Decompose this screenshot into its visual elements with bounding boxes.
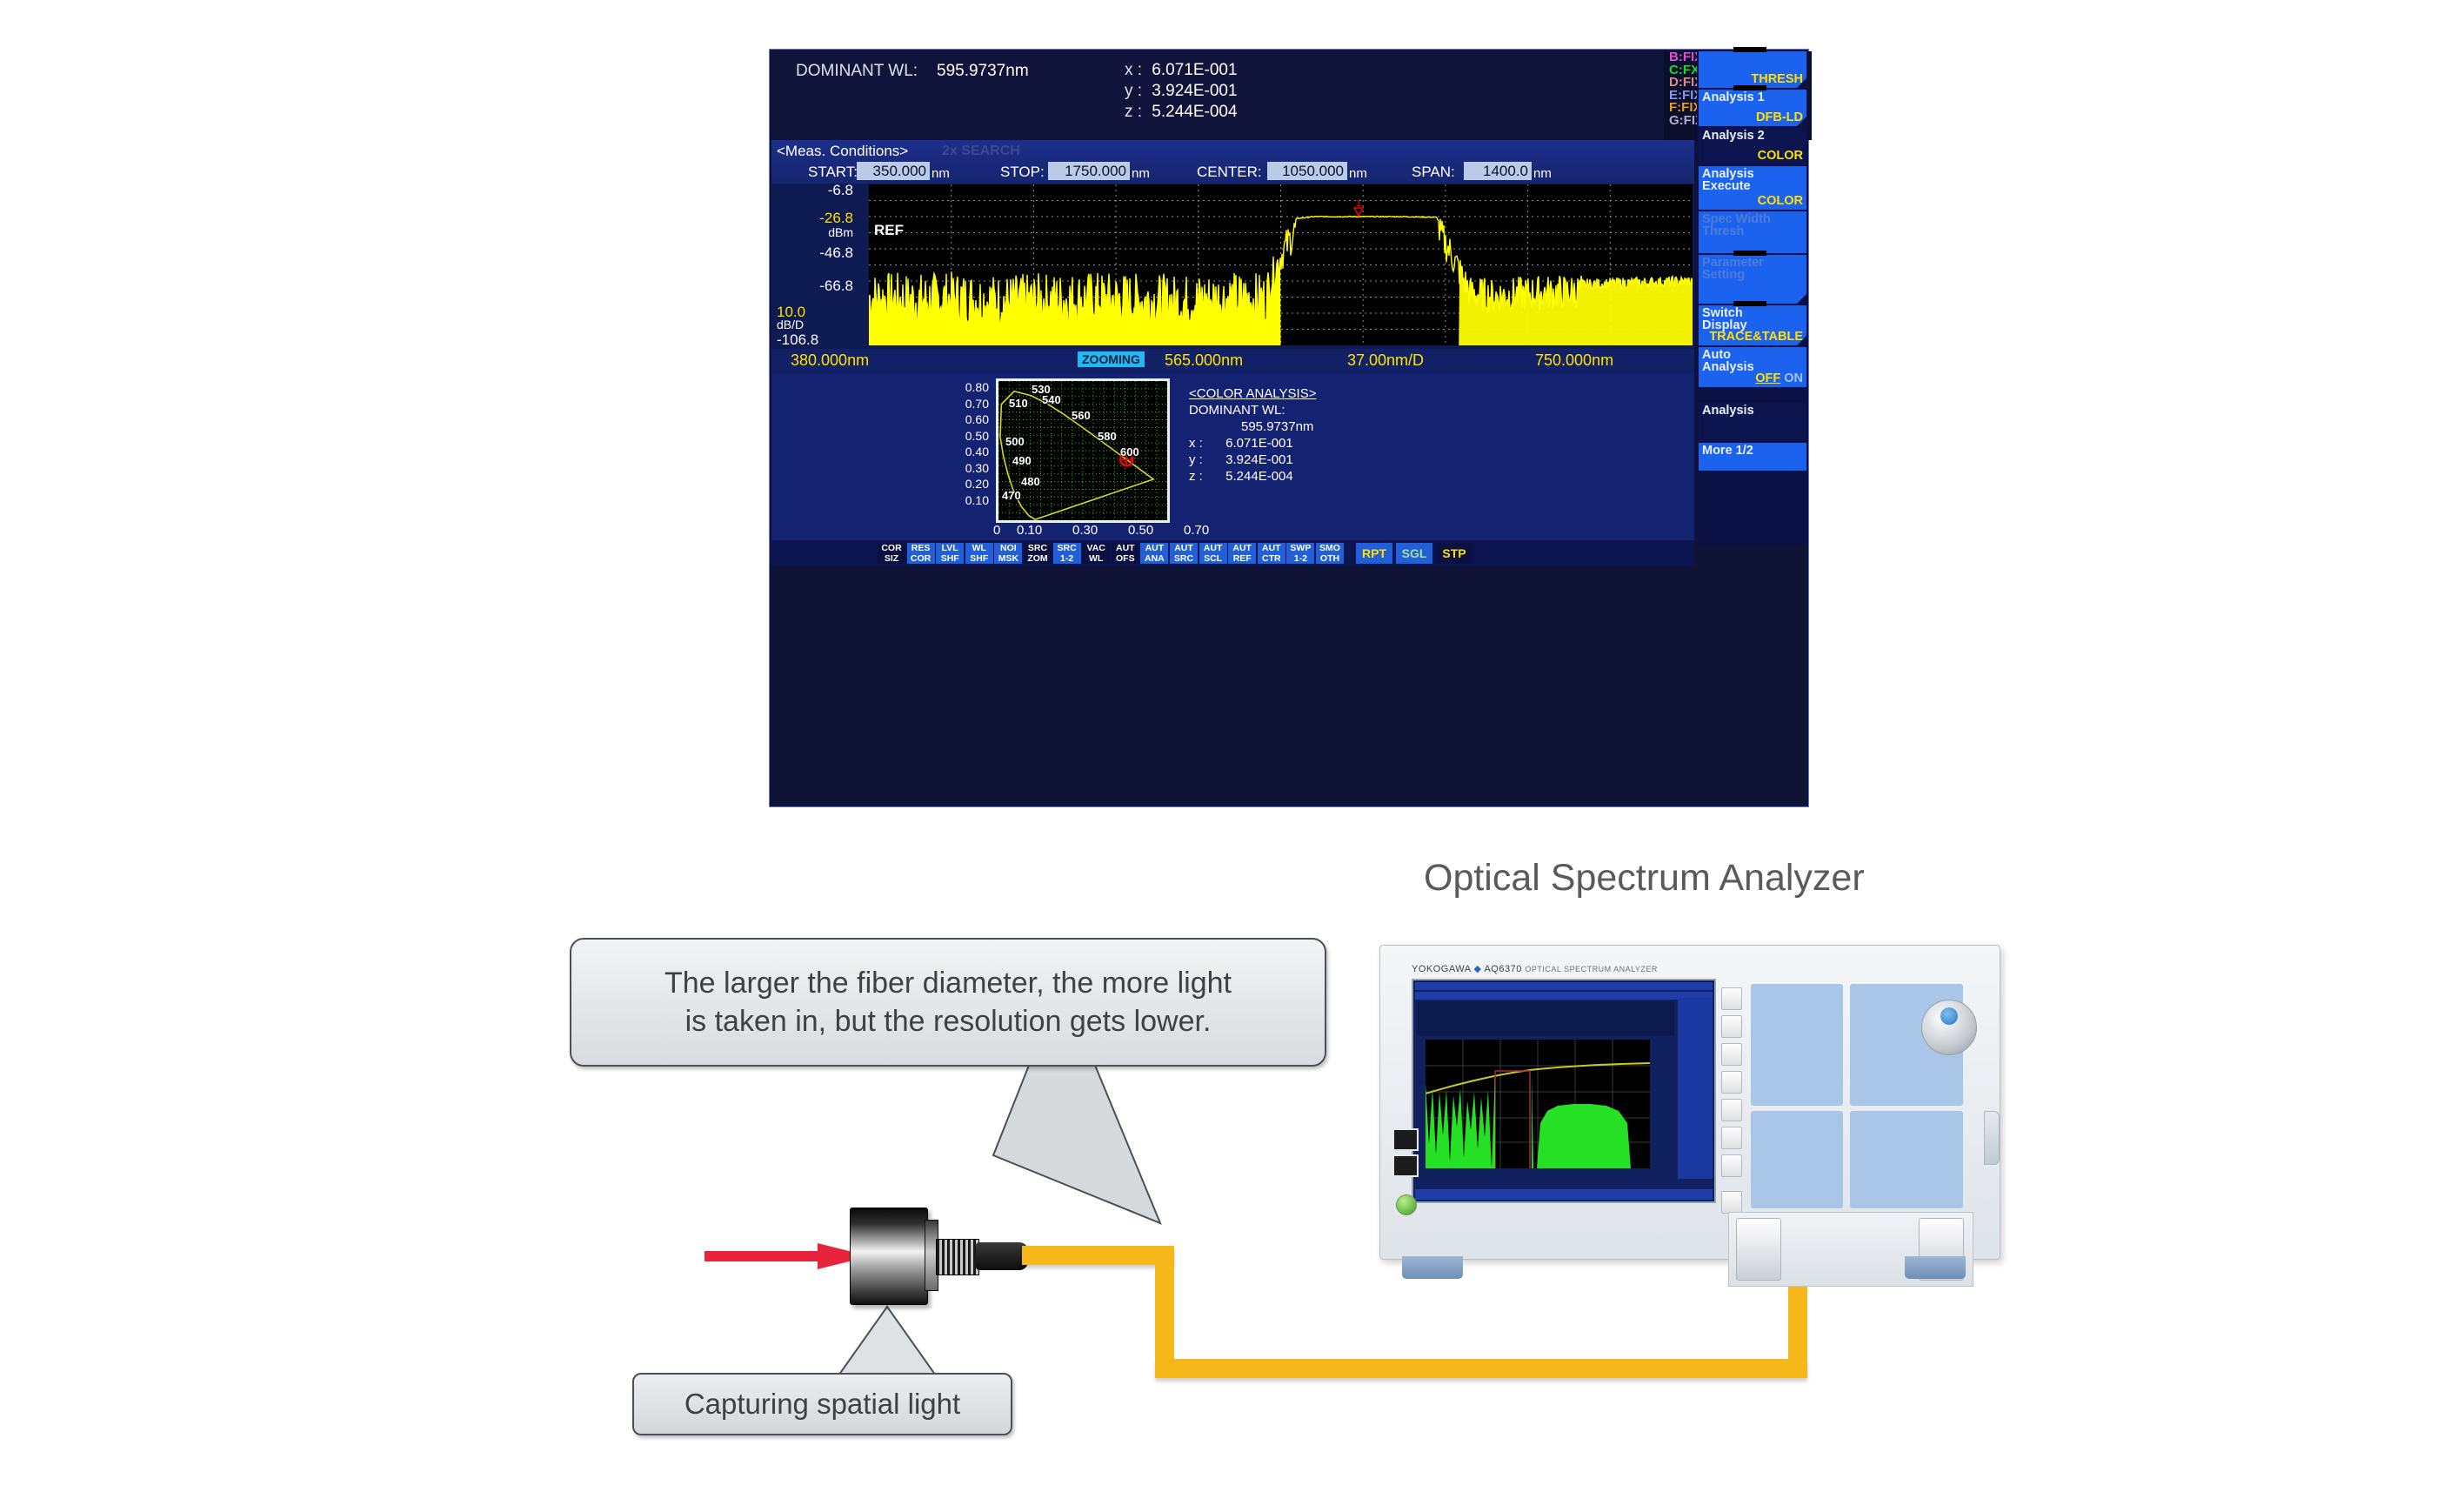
status-key[interactable]: SRCZOM	[1024, 543, 1052, 564]
start-value[interactable]: 350.000	[857, 162, 930, 180]
chroma-x-tick: 0	[993, 523, 1000, 538]
collimator-barrel	[850, 1208, 928, 1305]
status-key[interactable]: WLSHF	[965, 543, 993, 564]
status-key-line2: WL	[1082, 554, 1110, 565]
x-center-label: 565.000nm	[1165, 351, 1243, 370]
instrument-foot-left	[1402, 1256, 1463, 1279]
softkey[interactable]: Spec WidthThresh	[1699, 211, 1806, 253]
power-button[interactable]	[1396, 1194, 1417, 1215]
center-unit: nm	[1349, 166, 1367, 181]
diamond-icon: ◆	[1474, 964, 1482, 974]
chroma-y-tick: 0.40	[947, 445, 989, 458]
status-key[interactable]: AUTOFS	[1112, 543, 1139, 564]
status-key-line1: COR	[878, 544, 905, 554]
status-key-line1: AUT	[1258, 544, 1285, 554]
status-key-line1: AUT	[1112, 544, 1139, 554]
softkey-corner-icon	[1797, 336, 1806, 345]
softkey[interactable]: AutoAnalysisOFF ON	[1699, 347, 1806, 387]
status-key-line1: VAC	[1082, 544, 1110, 554]
span-unit: nm	[1533, 166, 1552, 181]
start-unit: nm	[932, 166, 950, 181]
status-key-line2: OTH	[1316, 554, 1344, 565]
ca-z-value: 5.244E-004	[1210, 469, 1293, 484]
softkey-on-option[interactable]: ON	[1784, 371, 1803, 385]
display-plot	[1426, 1040, 1650, 1168]
usb-port-1[interactable]	[1392, 1128, 1419, 1151]
softkey-corner-icon	[1797, 117, 1806, 126]
softkey-button-7[interactable]	[1721, 1154, 1742, 1177]
instrument-display	[1412, 979, 1716, 1203]
status-key[interactable]: SMOOTH	[1316, 543, 1344, 564]
x-start-label: 380.000nm	[791, 351, 869, 370]
center-value[interactable]: 1050.000	[1267, 162, 1347, 180]
softkey-tab-marker	[1733, 47, 1766, 52]
status-key-line1: WL	[965, 544, 993, 554]
color-analysis-panel: 0.800.700.600.500.400.300.200.10 00.100.…	[771, 373, 1694, 540]
spectrum-trace-svg: 1	[869, 184, 1693, 345]
chroma-y-tick: 0.70	[947, 397, 989, 411]
status-key[interactable]: AUTANA	[1140, 543, 1168, 564]
chroma-y-tick: 0.20	[947, 477, 989, 491]
status-key-line1: NOI	[994, 544, 1022, 554]
softkey-button-8[interactable]	[1721, 1191, 1742, 1214]
status-key-line1: AUT	[1140, 544, 1168, 554]
status-key-line2: SHF	[936, 554, 964, 565]
softkey-value: COLOR	[1758, 149, 1803, 163]
status-key-line1: SWP	[1286, 544, 1314, 554]
fiber-segment-1	[1022, 1246, 1174, 1265]
scale-unit: dB/D	[777, 318, 841, 331]
status-key-line1: SRC	[1053, 544, 1081, 554]
ca-y-value: 3.924E-001	[1210, 452, 1293, 467]
softkey-title: AutoAnalysis	[1702, 349, 1754, 373]
status-key-line1: LVL	[936, 544, 964, 554]
status-key[interactable]: CORSIZ	[878, 543, 905, 564]
callout-bubble: The larger the fiber diameter, the more …	[570, 938, 1326, 1067]
osa-screenshot: DOMINANT WL: 595.9737nm x : 6.071E-001 y…	[769, 49, 1809, 807]
softkey-title: SwitchDisplay	[1702, 307, 1747, 331]
stop-unit: nm	[1132, 166, 1150, 181]
y-value: 3.924E-001	[1152, 82, 1237, 100]
callout-line-1: The larger the fiber diameter, the more …	[664, 964, 1232, 1002]
chroma-wl-label: 560	[1072, 409, 1091, 422]
z-value: 5.244E-004	[1152, 103, 1237, 121]
ca-z-label: z :	[1189, 468, 1206, 485]
chroma-y-tick: 0.80	[947, 380, 989, 394]
xyz-readout: x : 6.071E-001 y : 3.924E-001 z : 5.244E…	[1125, 60, 1238, 123]
instrument-brand-label: YOKOGAWA ◆ AQ6370 OPTICAL SPECTRUM ANALY…	[1412, 963, 1658, 974]
display-titlebar-2	[1415, 992, 1713, 1000]
optical-spectrum-analyzer-photo: YOKOGAWA ◆ AQ6370 OPTICAL SPECTRUM ANALY…	[1372, 938, 2006, 1273]
softkey[interactable]: Analysis	[1699, 403, 1806, 441]
incoming-light-arrow-icon	[704, 1243, 870, 1269]
analysis-header: DOMINANT WL: 595.9737nm x : 6.071E-001 y…	[770, 50, 1694, 140]
chromaticity-diagram: 470480490500510530540560580600	[996, 378, 1170, 523]
chroma-wl-label: 470	[1002, 489, 1021, 502]
model-text: AQ6370	[1484, 964, 1525, 974]
chroma-x-tick: 0.10	[1017, 523, 1042, 538]
chroma-y-tick: 0.30	[947, 461, 989, 475]
status-key-line2: 1-2	[1053, 554, 1081, 565]
instrument-foot-right	[1905, 1256, 1966, 1279]
status-key-line1: AUT	[1199, 544, 1227, 554]
status-key-line2: ANA	[1140, 554, 1168, 565]
status-key-line1: AUT	[1170, 544, 1198, 554]
chroma-x-tick: 0.70	[1184, 523, 1209, 538]
fiber-connector-thread	[936, 1239, 979, 1275]
z-label: z :	[1125, 102, 1147, 123]
softkey-title: Analysis 1	[1702, 91, 1765, 104]
sweep-mode-key[interactable]: RPT	[1356, 543, 1392, 564]
center-label: CENTER:	[1197, 164, 1262, 181]
status-key-line2: SRC	[1170, 554, 1198, 565]
rotary-knob[interactable]	[1921, 1000, 1977, 1055]
status-key-line2: OFS	[1112, 554, 1139, 565]
status-key-line2: CTR	[1258, 554, 1285, 565]
instrument-chassis: YOKOGAWA ◆ AQ6370 OPTICAL SPECTRUM ANALY…	[1379, 945, 2000, 1260]
color-analysis-title: <COLOR ANALYSIS>	[1189, 385, 1316, 402]
softkey[interactable]: Analysis 2COLOR	[1699, 128, 1806, 164]
status-key-line2: COR	[907, 554, 935, 565]
ref-marker-label: REF	[874, 222, 904, 239]
softkey-value: TRACE&TABLE	[1709, 330, 1803, 344]
softkey-column: THRESHAnalysis 1DFB-LDAnalysis 2COLORAna…	[1697, 50, 1808, 545]
callout-pointer	[992, 1061, 1305, 1227]
capture-label: Capturing spatial light	[632, 1373, 1012, 1435]
y-label-3: -66.8	[789, 278, 853, 295]
status-key-line2: MSK	[994, 554, 1022, 565]
chroma-x-tick: 0.30	[1072, 523, 1098, 538]
y-units: dBm	[789, 225, 853, 239]
display-softkeys	[1678, 998, 1713, 1179]
x-stop-label: 750.000nm	[1535, 351, 1613, 370]
softkey-off-option[interactable]: OFF	[1755, 371, 1780, 385]
softkey-title: Analysis 2	[1702, 130, 1765, 142]
capture-label-text: Capturing spatial light	[684, 1388, 960, 1421]
softkey[interactable]: ParameterSetting	[1699, 255, 1806, 304]
status-key-line1: AUT	[1228, 544, 1256, 554]
chroma-wl-label: 510	[1009, 397, 1028, 410]
chroma-wl-label: 600	[1120, 445, 1139, 458]
chroma-y-tick: 0.50	[947, 429, 989, 443]
ca-domwl-label: DOMINANT WL:	[1189, 402, 1316, 418]
status-key-line1: SRC	[1024, 544, 1052, 554]
dominant-wl-value: 595.9737nm	[937, 62, 1029, 81]
keypad-group-left-bottom	[1751, 1111, 1843, 1208]
x-axis-bar: 380.000nm ZOOMING 565.000nm 37.00nm/D 75…	[771, 349, 1694, 373]
sweep-mode-key[interactable]: STP	[1436, 543, 1472, 564]
start-label: START:	[808, 164, 858, 181]
softkey-value: COLOR	[1758, 194, 1803, 208]
chroma-wl-label: 500	[1005, 435, 1025, 448]
stop-value[interactable]: 1750.000	[1048, 162, 1130, 180]
status-key[interactable]: SWP1-2	[1286, 543, 1314, 564]
softkey-button-1[interactable]	[1721, 987, 1742, 1010]
usb-port-2[interactable]	[1392, 1154, 1419, 1177]
fiber-connector-boot	[976, 1242, 1028, 1270]
status-key-line1: RES	[907, 544, 935, 554]
status-bar: CORSIZRESCORLVLSHFWLSHFNOIMSKSRCZOMSRC1-…	[771, 540, 1694, 566]
softkey-button-4[interactable]	[1721, 1071, 1742, 1094]
ca-y-label: y :	[1189, 452, 1206, 468]
ca-x-value: 6.071E-001	[1210, 436, 1293, 451]
status-key[interactable]: VACWL	[1082, 543, 1110, 564]
status-key-line1: SMO	[1316, 544, 1344, 554]
svg-text:1: 1	[1356, 198, 1361, 209]
keypad-group-left-top	[1751, 984, 1843, 1106]
softkey[interactable]: AnalysisExecuteCOLOR	[1699, 166, 1806, 210]
status-key[interactable]: RESCOR	[907, 543, 935, 564]
optical-input-port[interactable]	[1736, 1218, 1781, 1281]
softkey-value: OFF ON	[1755, 371, 1803, 385]
chroma-wl-label: 480	[1021, 475, 1040, 488]
x-value: 6.071E-001	[1152, 61, 1237, 79]
fiber-segment-3	[1155, 1359, 1807, 1378]
display-readout-area	[1417, 1001, 1674, 1036]
softkey[interactable]: THRESH	[1699, 51, 1806, 88]
color-analysis-readout: <COLOR ANALYSIS> DOMINANT WL: 595.9737nm…	[1189, 385, 1316, 485]
ca-domwl-value: 595.9737nm	[1189, 418, 1316, 435]
softkey-value: THRESH	[1751, 72, 1803, 86]
y-label-4: -106.8	[777, 331, 841, 349]
status-key-line2: 1-2	[1286, 554, 1314, 565]
sweep-mode-key[interactable]: SGL	[1396, 543, 1432, 564]
softkey-button-6[interactable]	[1721, 1127, 1742, 1149]
knob-center-icon	[1940, 1007, 1958, 1025]
x-per-div-label: 37.00nm/D	[1347, 351, 1424, 370]
softkey[interactable]: More 1/2	[1699, 443, 1806, 471]
meas-conditions-panel: <Meas. Conditions> 2x SEARCH START: 350.…	[771, 140, 1694, 184]
softkey-title: Spec WidthThresh	[1702, 213, 1771, 238]
softkey-button-2[interactable]	[1721, 1015, 1742, 1038]
softkey-title: Analysis	[1702, 405, 1754, 417]
status-key-line2: SHF	[965, 554, 993, 565]
status-key[interactable]: AUTREF	[1228, 543, 1256, 564]
chroma-x-tick: 0.50	[1128, 523, 1153, 538]
side-handle	[1984, 1111, 2000, 1165]
status-key[interactable]: SRC1-2	[1053, 543, 1081, 564]
plot-area: 1	[869, 184, 1693, 345]
chroma-y-tick: 0.60	[947, 412, 989, 426]
status-key[interactable]: AUTSCL	[1199, 543, 1227, 564]
status-key[interactable]: AUTCTR	[1258, 543, 1285, 564]
dominant-wl-label: DOMINANT WL:	[796, 62, 918, 81]
callout-line-2: is taken in, but the resolution gets low…	[664, 1002, 1232, 1040]
softkey[interactable]: SwitchDisplayTRACE&TABLE	[1699, 305, 1806, 345]
y-label-1: -26.8	[789, 210, 853, 227]
capture-label-pointer	[835, 1305, 974, 1383]
span-value[interactable]: 1400.0	[1464, 162, 1532, 180]
chroma-wl-label: 580	[1098, 430, 1117, 443]
model-sub-text: OPTICAL SPECTRUM ANALYZER	[1525, 965, 1658, 973]
softkey-value: DFB-LD	[1756, 110, 1803, 124]
status-key-line2: SIZ	[878, 554, 905, 565]
softkey-corner-icon	[1797, 294, 1806, 304]
display-titlebar-1	[1415, 982, 1713, 990]
status-key-line2: REF	[1228, 554, 1256, 565]
page-title: Optical Spectrum Analyzer	[1424, 857, 1865, 900]
status-key-line2: ZOM	[1024, 554, 1052, 565]
softkey-button-5[interactable]	[1721, 1099, 1742, 1121]
softkey-button-3[interactable]	[1721, 1043, 1742, 1066]
softkey[interactable]: Analysis 1DFB-LD	[1699, 90, 1806, 126]
status-key[interactable]: AUTSRC	[1170, 543, 1198, 564]
spectrum-graph: -6.8 -26.8 dBm -46.8 -66.8 10.0 dB/D -10…	[771, 184, 1694, 349]
softkey-corner-icon	[1797, 78, 1806, 88]
chroma-wl-label: 490	[1012, 454, 1032, 467]
meas-conditions-title: <Meas. Conditions>	[777, 143, 908, 160]
softkey-title: ParameterSetting	[1702, 257, 1764, 281]
ghost-overlay-text: 2x SEARCH	[942, 144, 1020, 159]
y-label-0: -6.8	[789, 182, 853, 199]
status-key[interactable]: NOIMSK	[994, 543, 1022, 564]
status-key[interactable]: LVLSHF	[936, 543, 964, 564]
ca-x-label: x :	[1189, 435, 1206, 452]
display-trace-svg	[1426, 1040, 1650, 1168]
y-label: y :	[1125, 81, 1147, 102]
keypad-group-numeric	[1850, 1111, 1963, 1208]
chroma-y-tick: 0.10	[947, 493, 989, 507]
y-label-2: -46.8	[789, 244, 853, 262]
stop-label: STOP:	[1000, 164, 1045, 181]
brand-text: YOKOGAWA	[1412, 964, 1471, 974]
display-status-bar	[1415, 1189, 1713, 1200]
status-key-line2: SCL	[1199, 554, 1227, 565]
softkey-title: AnalysisExecute	[1702, 168, 1754, 192]
x-label: x :	[1125, 60, 1147, 81]
zooming-badge: ZOOMING	[1078, 351, 1145, 367]
span-label: SPAN:	[1412, 164, 1455, 181]
softkey-title: More 1/2	[1702, 445, 1753, 457]
chroma-wl-label: 540	[1042, 393, 1061, 406]
